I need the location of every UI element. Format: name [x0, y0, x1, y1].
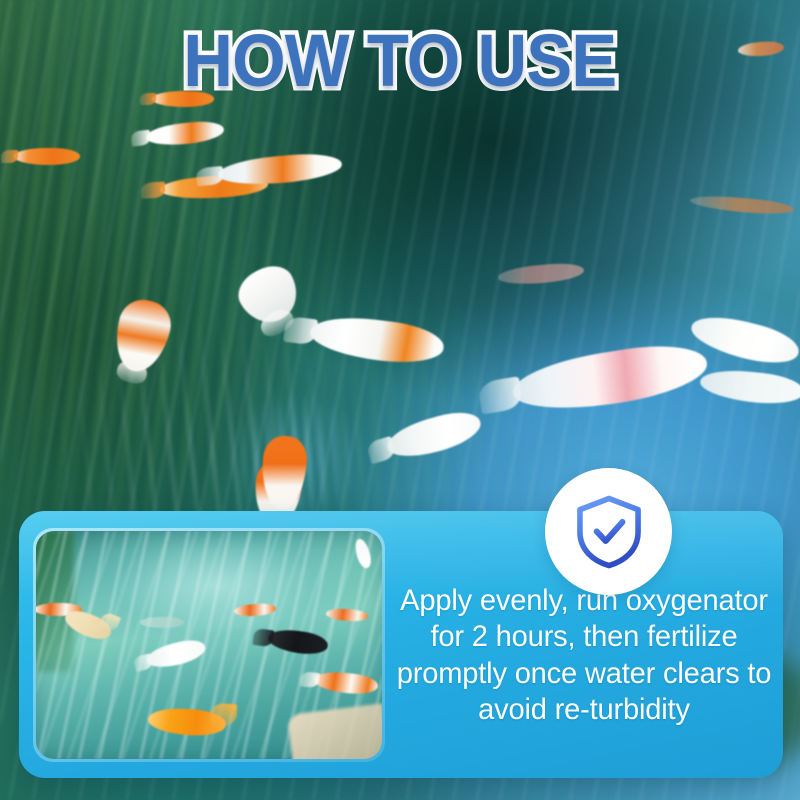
shield-check-badge — [545, 468, 672, 595]
fish-orange-koi-top-left — [14, 148, 80, 165]
shield-check-icon — [573, 494, 645, 570]
inset-photo-frame — [33, 528, 385, 762]
fish-orange-white-koi-behind-panel — [259, 435, 308, 512]
how-to-use-infographic: HOW TO USE — [0, 0, 800, 800]
inset-clear-pond-photo — [36, 531, 382, 759]
inset-fish-goldfish-bottom — [147, 706, 227, 737]
fish-orange-koi-upper — [152, 91, 214, 107]
instruction-text: Apply evenly, run oxygenator for 2 hours… — [392, 583, 776, 728]
inset-fish-pale-center-top — [140, 617, 184, 628]
